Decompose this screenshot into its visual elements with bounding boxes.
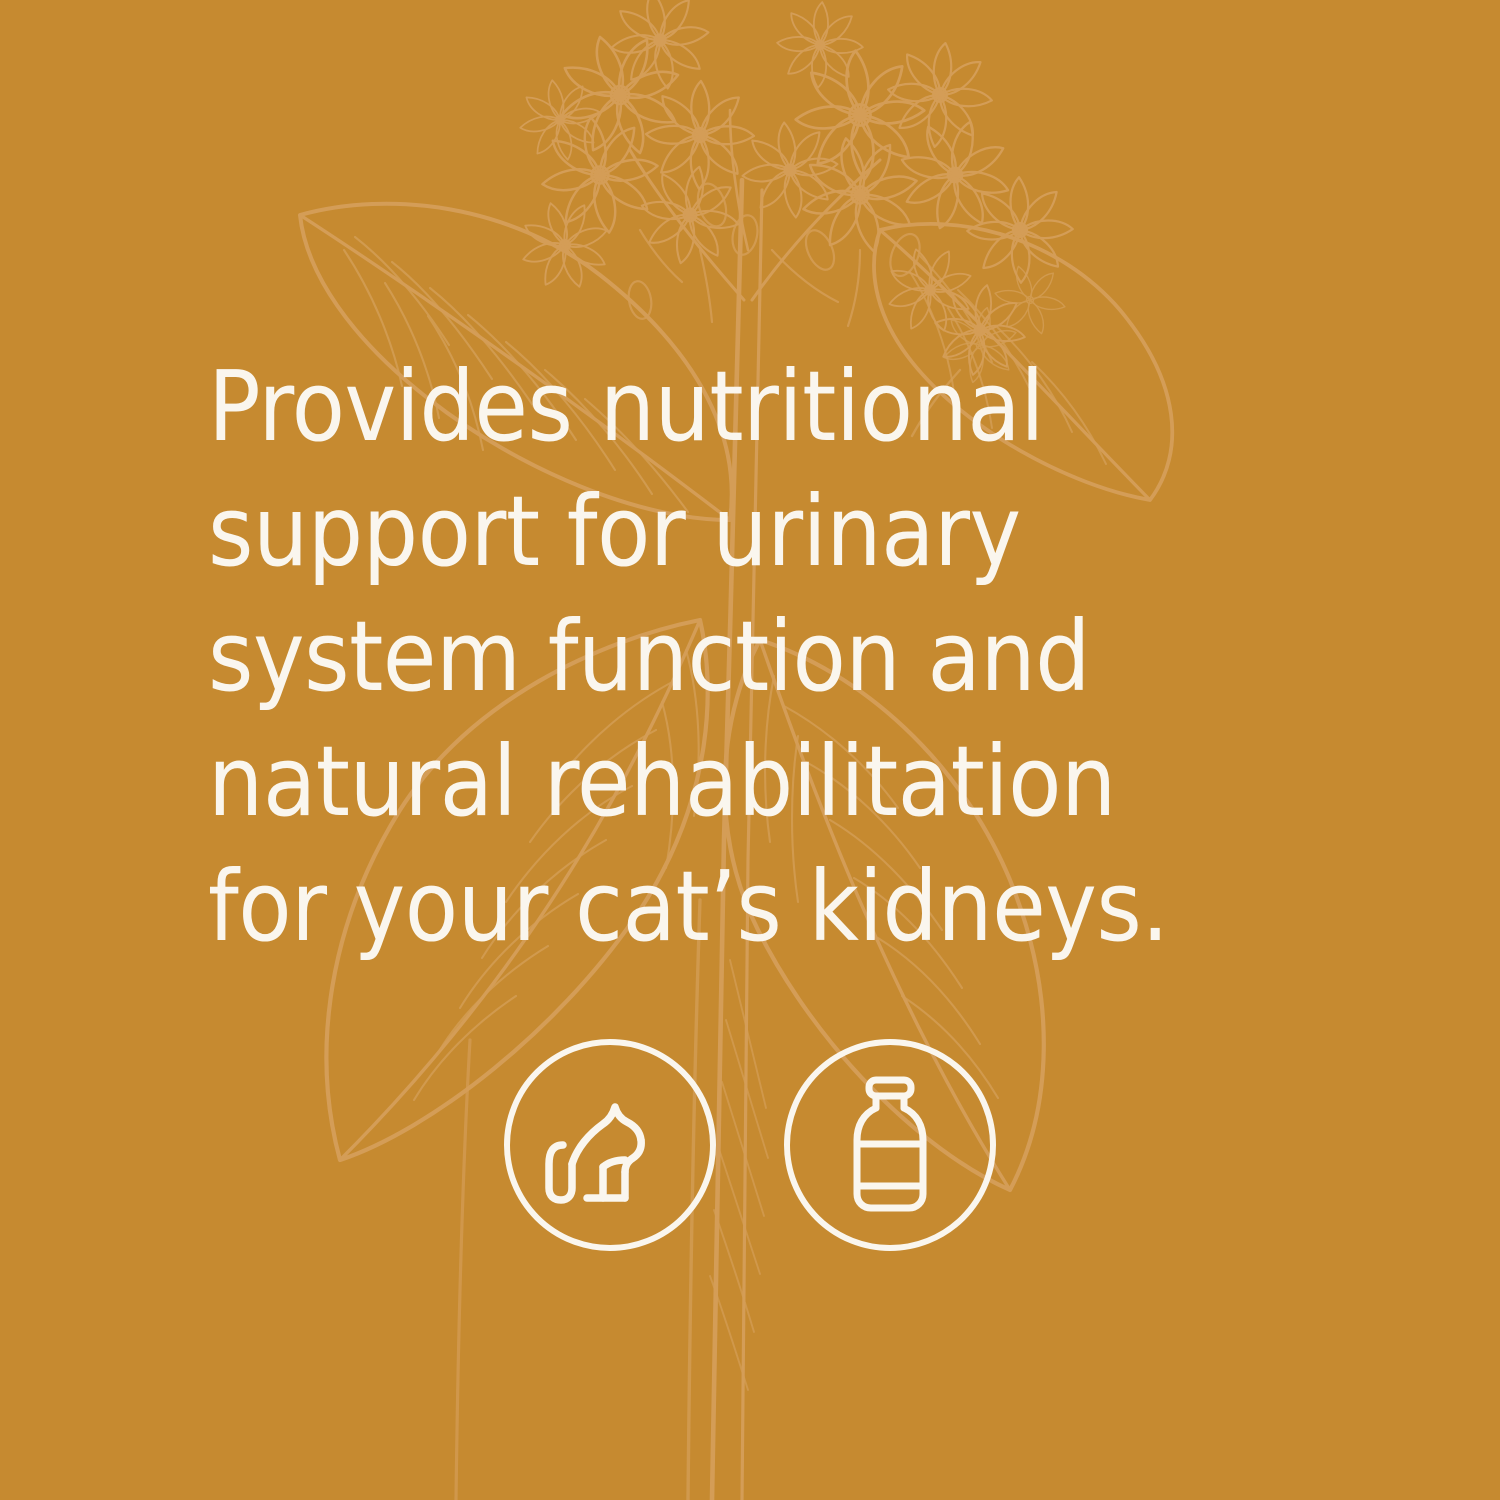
promo-graphic: Provides nutritional support for urinary… [0,0,1500,1500]
cat-badge-svg [501,1036,719,1254]
bottle-badge [781,1036,999,1254]
cat-badge [501,1036,719,1254]
feature-icon-row [0,1036,1500,1254]
sitting-cat-icon [549,1107,641,1200]
supplement-bottle-icon [857,1080,923,1208]
bottle-badge-svg [781,1036,999,1254]
headline-text: Provides nutritional support for urinary… [208,344,1318,969]
badge-circle-outline [507,1042,713,1248]
